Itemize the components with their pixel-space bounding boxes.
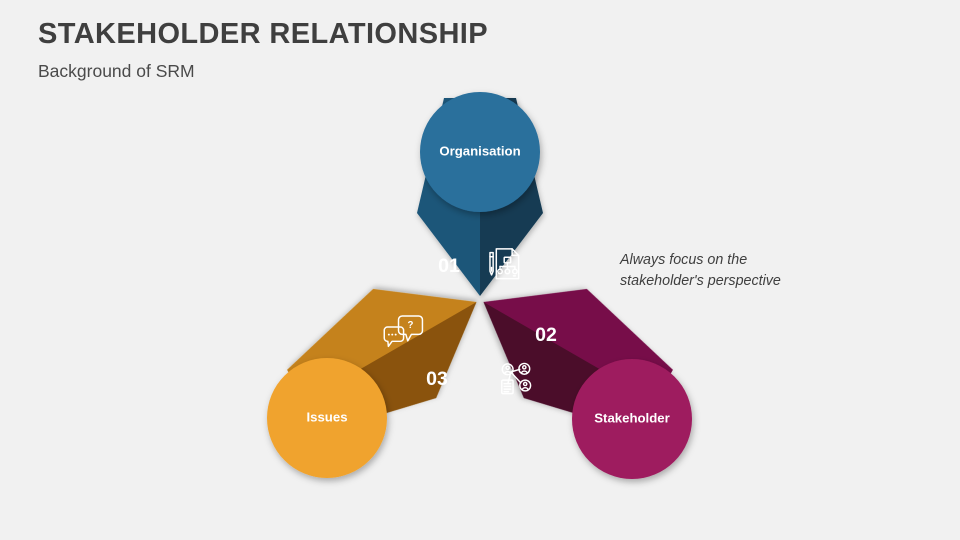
three-step-cycle-diagram: Issues 03 ? Stakeholder 02 — [0, 0, 960, 540]
step-01-group[interactable]: Organisation 01 — [417, 92, 543, 296]
step-number-03: 03 — [426, 368, 448, 390]
step-number-01: 01 — [438, 255, 460, 277]
svg-text:?: ? — [408, 320, 414, 331]
node-label-stakeholder: Stakeholder — [594, 410, 670, 425]
node-label-issues: Issues — [306, 409, 347, 424]
step-number-02: 02 — [535, 324, 557, 346]
node-label-organisation: Organisation — [439, 143, 520, 158]
